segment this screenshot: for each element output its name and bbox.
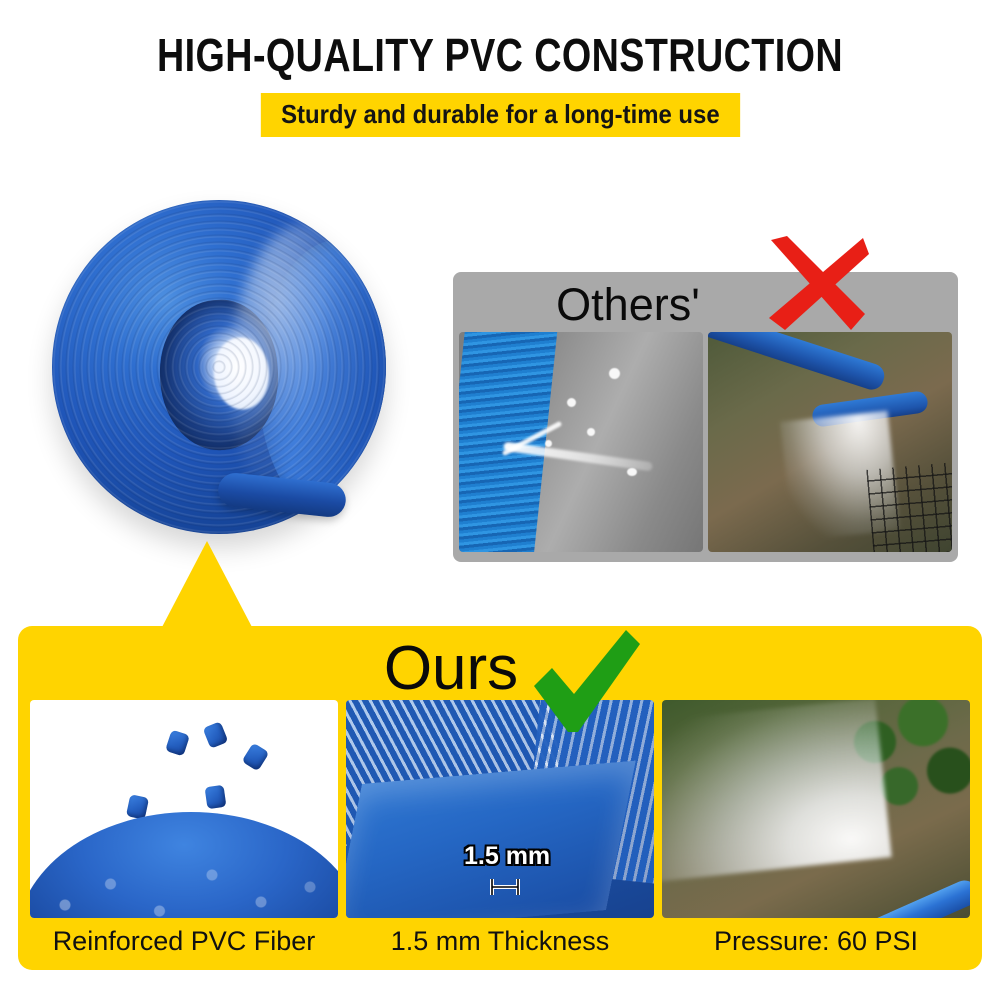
water-pressure-photo bbox=[662, 700, 970, 918]
hose-center-hub bbox=[155, 296, 283, 454]
hose-segment bbox=[708, 332, 887, 393]
ours-title: Ours bbox=[18, 634, 884, 704]
burst-hose-spray-photo bbox=[459, 332, 703, 552]
yellow-pointer-arrow-icon bbox=[161, 541, 253, 629]
others-comparison-panel: Others' bbox=[453, 272, 958, 562]
thickness-overlay-label: 1.5 mm bbox=[464, 842, 550, 871]
feature-card-reinforced-pvc-fiber: Reinforced PVC Fiber bbox=[30, 700, 338, 958]
subtitle-banner: Sturdy and durable for a long-time use bbox=[0, 93, 1000, 137]
water-droplet bbox=[587, 428, 595, 436]
hose-nozzle bbox=[850, 876, 970, 918]
pellet bbox=[205, 785, 227, 809]
feature-caption-thickness: 1.5 mm Thickness bbox=[346, 918, 654, 958]
leaking-hose-outdoor-photo bbox=[708, 332, 952, 552]
water-droplet bbox=[545, 440, 552, 447]
wire-mesh-fence bbox=[866, 462, 952, 552]
water-droplet bbox=[609, 368, 620, 379]
feature-caption-reinforced-pvc-fiber: Reinforced PVC Fiber bbox=[30, 918, 338, 958]
product-hose-photo bbox=[22, 186, 414, 586]
feature-card-pressure: Pressure: 60 PSI bbox=[662, 700, 970, 958]
feature-card-thickness: 1.5 mm 1.5 mm Thick bbox=[346, 700, 654, 958]
pvc-pellets-photo bbox=[30, 700, 338, 918]
pellet bbox=[203, 721, 229, 749]
pellet bbox=[242, 743, 270, 772]
ours-comparison-panel: Ours Reinforced PVC Fiber bbox=[18, 626, 982, 970]
pellet bbox=[165, 730, 190, 757]
others-title: Others' bbox=[453, 278, 803, 332]
pellet-pile bbox=[30, 812, 338, 918]
water-jet bbox=[662, 700, 892, 882]
subtitle-text: Sturdy and durable for a long-time use bbox=[260, 93, 739, 137]
others-photo-row bbox=[459, 332, 952, 552]
page-title: HIGH-QUALITY PVC CONSTRUCTION bbox=[90, 28, 910, 82]
water-droplet bbox=[627, 468, 637, 476]
infographic-page: HIGH-QUALITY PVC CONSTRUCTION Sturdy and… bbox=[0, 0, 1000, 1000]
hose-thickness-photo: 1.5 mm bbox=[346, 700, 654, 918]
thickness-measure-icon bbox=[488, 876, 522, 898]
ours-card-row: Reinforced PVC Fiber 1.5 mm bbox=[30, 700, 970, 958]
feature-caption-pressure: Pressure: 60 PSI bbox=[662, 918, 970, 958]
water-droplet bbox=[567, 398, 576, 407]
